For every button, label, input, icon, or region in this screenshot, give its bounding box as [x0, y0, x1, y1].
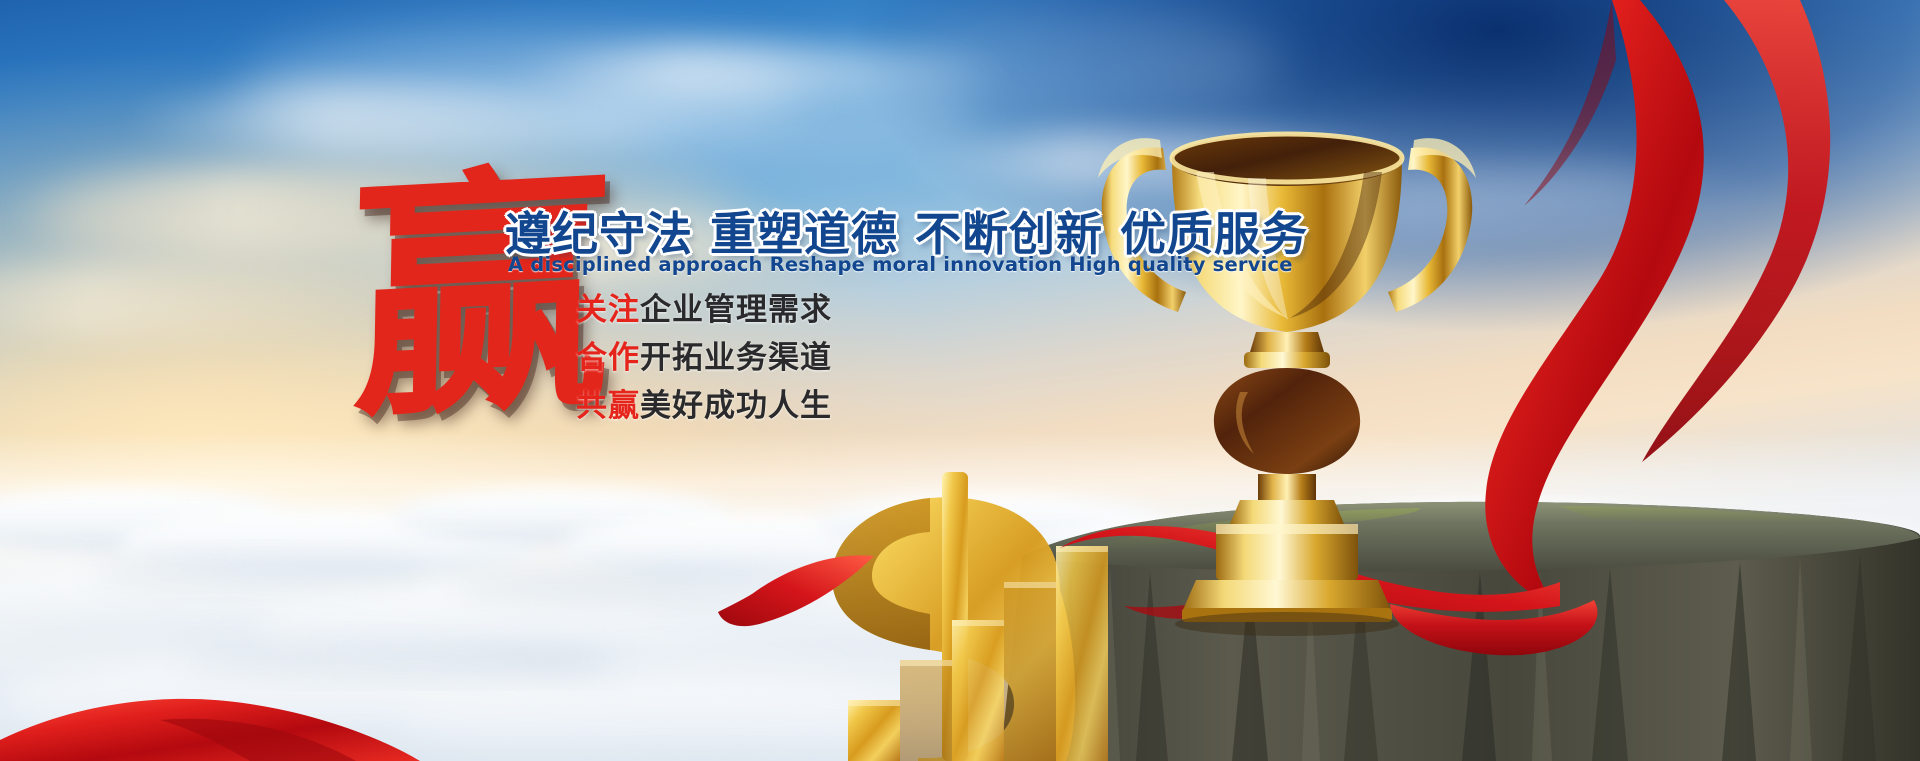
text-content: 赢 遵纪守法 重塑道德 不断创新 优质服务 A disciplined appr… — [0, 0, 1920, 761]
slogan-accent-2: 合作 — [576, 340, 640, 376]
slogan-rest-2: 开拓业务渠道 — [640, 340, 832, 376]
slogan-rest-1: 企业管理需求 — [640, 292, 832, 328]
slogan-accent-1: 关注 — [576, 292, 640, 328]
slogan-rest-3: 美好成功人生 — [640, 388, 832, 424]
slogan-line-2: 合作开拓业务渠道 — [576, 332, 832, 377]
slogan-line-3: 共赢美好成功人生 — [576, 380, 832, 425]
promo-banner: 赢 遵纪守法 重塑道德 不断创新 优质服务 A disciplined appr… — [0, 0, 1920, 761]
subtitle-english: A disciplined approach Reshape moral inn… — [508, 253, 1293, 276]
slogan-accent-3: 共赢 — [576, 388, 640, 424]
slogan-line-1: 关注企业管理需求 — [576, 284, 832, 329]
